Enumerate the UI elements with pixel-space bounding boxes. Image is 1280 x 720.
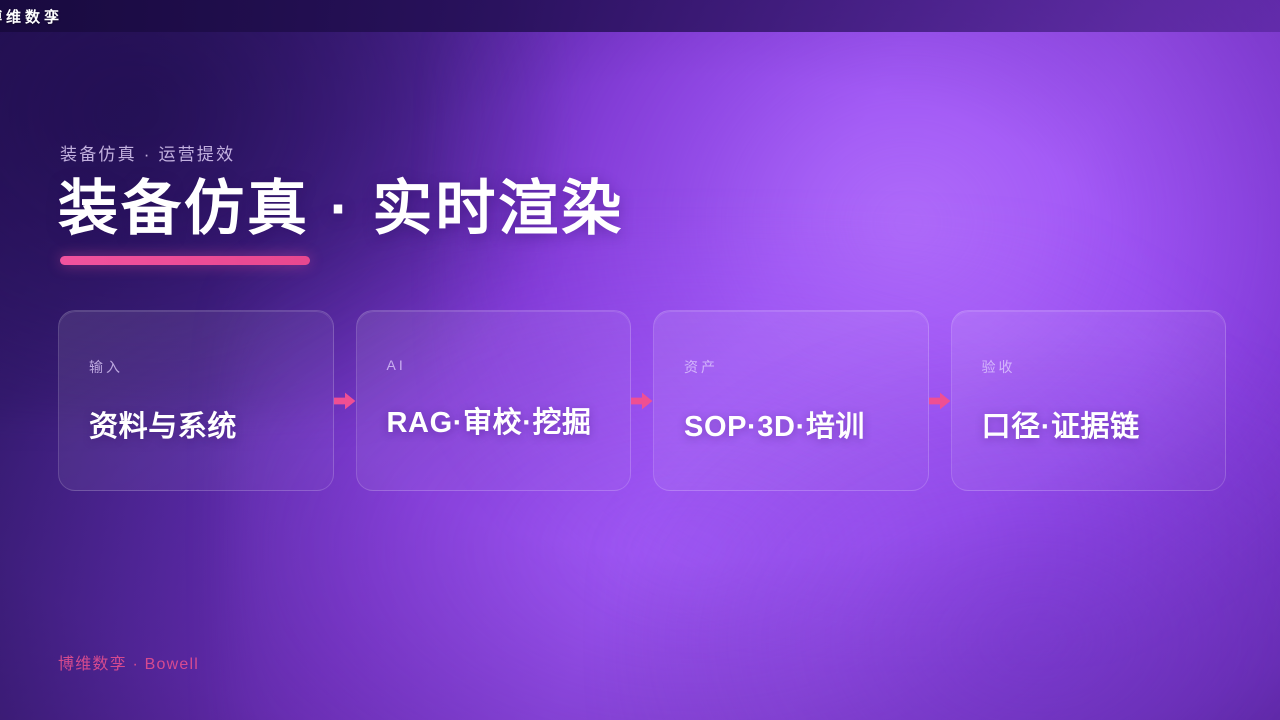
pipeline-card-label: 资产 <box>684 357 928 377</box>
pipeline-card-acceptance[interactable]: 验收 口径·证据链 <box>951 310 1227 491</box>
pipeline-card-input[interactable]: 输入 资料与系统 <box>58 310 334 491</box>
pipeline-connector-2 <box>631 310 653 491</box>
pipeline-card-title: 资料与系统 <box>89 403 333 445</box>
pipeline-card-title: RAG·审校·挖掘 <box>387 399 631 441</box>
pipeline-card-label: AI <box>387 357 631 373</box>
pipeline-flow: 输入 资料与系统 AI RAG·审校·挖掘 资产 SOP·3D·培训 <box>58 310 1226 491</box>
pipeline-card-assets[interactable]: 资产 SOP·3D·培训 <box>653 310 929 491</box>
pipeline-card-title: SOP·3D·培训 <box>684 403 928 445</box>
eyebrow-text: 装备仿真 · 运营提效 <box>60 140 624 165</box>
pipeline-connector-1 <box>334 310 356 491</box>
pipeline-card-label: 验收 <box>982 357 1226 377</box>
page-title: 装备仿真 · 实时渲染 <box>58 175 624 242</box>
pipeline-card-ai[interactable]: AI RAG·审校·挖掘 <box>356 310 632 491</box>
pipeline-card-title: 口径·证据链 <box>982 403 1226 445</box>
arrow-right-icon <box>631 392 653 410</box>
top-bar: 博维数孪 <box>0 0 1280 32</box>
pipeline-card-label: 输入 <box>89 357 333 377</box>
arrow-right-icon <box>334 392 356 410</box>
title-underline-accent <box>60 256 310 265</box>
brand-logo: 博维数孪 <box>0 6 63 27</box>
arrow-right-icon <box>929 392 951 410</box>
pipeline-connector-3 <box>929 310 951 491</box>
header-block: 装备仿真 · 运营提效 装备仿真 · 实时渲染 <box>58 140 624 265</box>
slide-root: 博维数孪 装备仿真 · 运营提效 装备仿真 · 实时渲染 输入 资料与系统 AI… <box>0 0 1280 720</box>
footer-brand: 博维数孪 · Bowell <box>58 650 199 674</box>
